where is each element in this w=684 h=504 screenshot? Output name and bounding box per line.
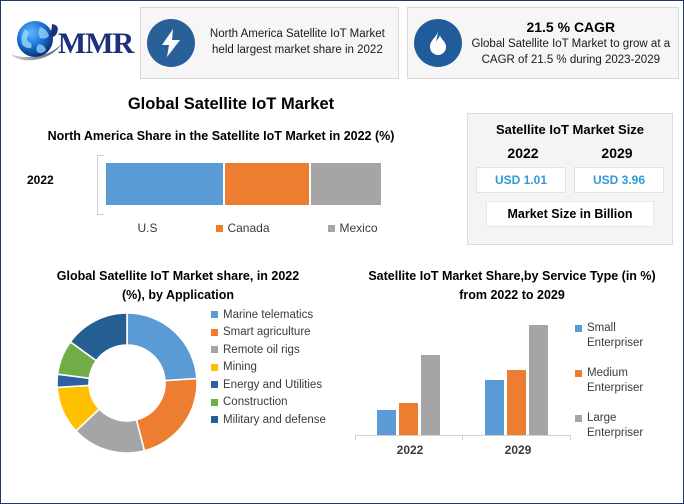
cagr-value: 21.5 % CAGR <box>470 18 672 37</box>
market-size-values: USD 1.01 USD 3.96 <box>476 167 664 193</box>
market-size-value-2029: USD 3.96 <box>574 167 664 193</box>
donut-legend-item: Military and defense <box>211 414 351 426</box>
donut-legend-swatch <box>211 364 218 371</box>
na-legend-item-us: U.S <box>126 221 157 235</box>
donut-legend-swatch <box>211 381 218 388</box>
donut-legend-item: Energy and Utilities <box>211 379 351 391</box>
stat-card-text: North America Satellite IoT Market held … <box>203 27 391 58</box>
svc-legend-label: Small Enterpriser <box>587 321 675 352</box>
donut-slice <box>127 313 197 381</box>
svc-chart-title: Satellite IoT Market Share,by Service Ty… <box>347 267 677 305</box>
svc-legend-item: Medium Enterpriser <box>575 366 675 397</box>
svc-x-label: 2022 <box>380 443 440 457</box>
svc-x-label: 2029 <box>488 443 548 457</box>
na-segment-canada <box>225 163 311 205</box>
lightning-bolt-icon <box>147 19 195 67</box>
donut-legend-item: Mining <box>211 361 351 373</box>
donut-legend-swatch <box>211 399 218 406</box>
svc-bar <box>399 403 418 435</box>
svc-bar <box>485 380 504 435</box>
market-size-title: Satellite IoT Market Size <box>476 122 664 137</box>
donut-plot-area: Marine telematicsSmart agricultureRemote… <box>13 311 343 463</box>
application-share-chart: Global Satellite IoT Market share, in 20… <box>13 267 343 495</box>
svc-tick-mid <box>462 435 463 440</box>
svc-tick-end <box>570 435 571 440</box>
svc-plot-area: 20222029 Small EnterpriserMedium Enterpr… <box>347 313 677 483</box>
svc-tick-start <box>355 435 356 440</box>
donut-legend-label: Construction <box>223 396 288 408</box>
na-category-label: 2022 <box>27 173 54 187</box>
svc-legend-swatch <box>575 370 582 377</box>
donut-legend-swatch <box>211 311 218 318</box>
svc-bar <box>377 410 396 434</box>
donut-chart-title: Global Satellite IoT Market share, in 20… <box>13 267 343 305</box>
svc-legend-swatch <box>575 415 582 422</box>
donut-legend-label: Energy and Utilities <box>223 379 322 391</box>
svc-legend-swatch <box>575 325 582 332</box>
donut-legend-label: Marine telematics <box>223 309 313 321</box>
cagr-description: Global Satellite IoT Market to grow at a… <box>472 38 671 66</box>
na-axis <box>97 155 104 215</box>
svc-bar <box>529 325 548 435</box>
donut-legend-item: Smart agriculture <box>211 326 351 338</box>
svc-legend-item: Large Enterpriser <box>575 411 675 442</box>
donut-legend-label: Smart agriculture <box>223 326 311 338</box>
donut-legend-label: Mining <box>223 361 257 373</box>
stat-card-body: 21.5 % CAGR Global Satellite IoT Market … <box>470 18 672 69</box>
brand-logo: MMR <box>1 1 140 87</box>
header-row: MMR North America Satellite IoT Market h… <box>1 1 683 87</box>
market-size-year-right: 2029 <box>601 145 632 161</box>
na-legend-label-us: U.S <box>137 221 157 235</box>
na-legend-item-canada: Canada <box>216 221 269 235</box>
donut-legend-item: Construction <box>211 396 351 408</box>
market-size-year-left: 2022 <box>507 145 538 161</box>
na-legend-label-canada: Canada <box>227 221 269 235</box>
na-segment-us <box>106 163 225 205</box>
svc-bar-group <box>377 355 443 434</box>
na-legend: U.S Canada Mexico <box>97 221 407 235</box>
donut-legend-item: Remote oil rigs <box>211 344 351 356</box>
svc-bars <box>355 313 570 435</box>
svc-legend-label: Large Enterpriser <box>587 411 675 442</box>
stat-card-north-america: North America Satellite IoT Market held … <box>140 7 398 79</box>
stat-card-cagr: 21.5 % CAGR Global Satellite IoT Market … <box>407 7 679 79</box>
market-size-value-2022: USD 1.01 <box>476 167 566 193</box>
north-america-share-chart: North America Share in the Satellite IoT… <box>11 127 431 257</box>
donut-svg <box>51 307 203 459</box>
svc-bar <box>421 355 440 434</box>
donut-legend: Marine telematicsSmart agricultureRemote… <box>211 309 351 432</box>
na-legend-item-mexico: Mexico <box>328 221 377 235</box>
market-size-years: 2022 2029 <box>476 145 664 161</box>
svc-bar-group <box>485 325 551 435</box>
infographic-canvas: MMR North America Satellite IoT Market h… <box>0 0 684 504</box>
donut-legend-swatch <box>211 329 218 336</box>
na-segment-mexico <box>311 163 381 205</box>
na-stacked-bar <box>106 163 381 205</box>
na-legend-swatch-mexico <box>328 225 335 232</box>
svc-legend-label: Medium Enterpriser <box>587 366 675 397</box>
donut-legend-label: Military and defense <box>223 414 326 426</box>
na-plot-area: 2022 U.S Canada Mexico <box>11 155 431 217</box>
na-legend-swatch-canada <box>216 225 223 232</box>
donut-legend-label: Remote oil rigs <box>223 344 300 356</box>
page-title: Global Satellite IoT Market <box>21 95 441 114</box>
donut-slice <box>136 378 197 450</box>
donut-legend-item: Marine telematics <box>211 309 351 321</box>
svc-bar <box>507 370 526 435</box>
svc-legend-item: Small Enterpriser <box>575 321 675 352</box>
donut-legend-swatch <box>211 346 218 353</box>
svc-legend: Small EnterpriserMedium EnterpriserLarge… <box>575 321 675 456</box>
flame-icon <box>414 19 462 67</box>
donut-legend-swatch <box>211 416 218 423</box>
market-size-unit: Market Size in Billion <box>486 201 654 227</box>
na-chart-title: North America Share in the Satellite IoT… <box>11 127 431 145</box>
logo-text: MMR <box>58 27 133 61</box>
service-type-chart: Satellite IoT Market Share,by Service Ty… <box>347 267 677 495</box>
market-size-panel: Satellite IoT Market Size 2022 2029 USD … <box>467 113 673 245</box>
na-legend-label-mexico: Mexico <box>339 221 377 235</box>
